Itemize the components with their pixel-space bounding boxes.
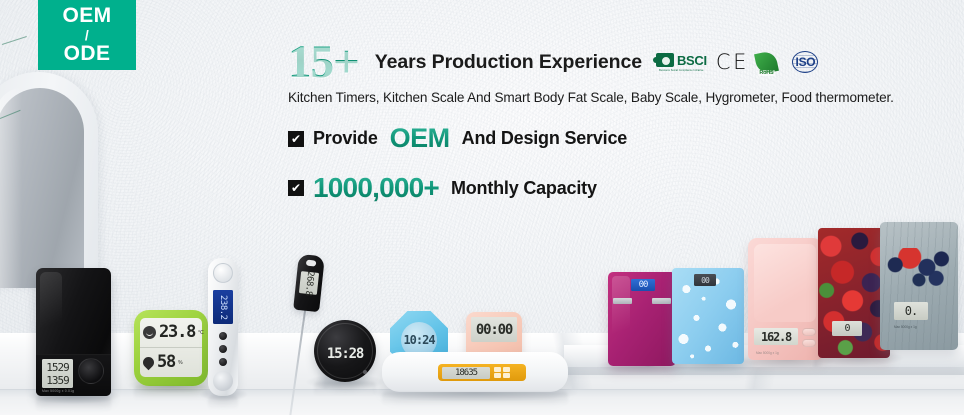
product-folding-thermometer: 238.2	[208, 258, 238, 396]
hygrometer-humidity: 58	[157, 354, 175, 371]
blue-timer-display: 10:24	[403, 333, 434, 347]
product-black-kitchen-scale: 1529 1359 Max 5000g x 0.01g	[36, 268, 111, 396]
bullet-capacity: ✔ 1000,000+ Monthly Capacity	[288, 172, 964, 204]
bsci-mark-icon	[656, 53, 674, 67]
product-reflection	[208, 396, 238, 410]
pink-scale-button[interactable]	[802, 328, 816, 336]
product-reflection	[314, 382, 376, 397]
thermometer-button-2[interactable]	[219, 345, 227, 353]
pink-scale-brand: Max 5000g x 1g	[756, 351, 779, 355]
black-scale-dial-button[interactable]	[78, 358, 104, 384]
certification-logos: BSCI Business Social Compliance Initiati…	[656, 49, 822, 75]
hygrometer-temp-unit: °C	[198, 330, 204, 336]
timer-indicator-dot	[363, 370, 367, 374]
bullet-oem-pre: Provide	[313, 128, 378, 149]
grey-scale-brand: Max 5000g x 1g	[894, 325, 917, 329]
badge-line-1: OEM	[62, 5, 111, 26]
thermometer-foot	[213, 371, 233, 391]
baby-scale-button[interactable]	[503, 367, 510, 372]
black-scale-brand: Max 5000g x 0.01g	[42, 389, 74, 393]
product-purple-body-fat-scale: 00	[608, 272, 676, 366]
folding-thermometer-display: 238.2	[213, 290, 233, 324]
gloss-highlight	[40, 272, 62, 346]
bullet-oem: ✔ Provide OEM And Design Service	[288, 123, 964, 154]
pink-scale-button[interactable]	[802, 339, 816, 347]
black-scale-panel: 1529 1359 Max 5000g x 0.01g	[36, 354, 111, 396]
bullet-oem-highlight: OEM	[387, 123, 453, 154]
probe-display: 268.8	[299, 271, 319, 295]
check-icon: ✔	[288, 131, 304, 147]
badge-line-2: /	[85, 28, 89, 42]
headline-block: 15+ Years Production Experience BSCI Bus…	[288, 38, 964, 204]
black-scale-display-top: 1529	[46, 361, 69, 374]
hygrometer-temp-row: 23.8 °C	[140, 318, 202, 347]
probe-hang-hole	[306, 260, 317, 267]
badge-line-3: ODE	[64, 43, 111, 64]
electrode-right	[652, 298, 671, 304]
pink-scale-plate	[754, 244, 816, 322]
bsci-sublabel: Business Social Compliance Initiative	[659, 69, 703, 72]
product-reflection	[36, 396, 111, 412]
product-blue-polka-dot-scale: 00	[672, 268, 744, 364]
black-scale-display-bottom: 1359	[46, 374, 69, 387]
pink-timer-display: 00:00	[471, 317, 517, 342]
iso-logo: ISO	[788, 49, 822, 75]
bsci-logo-row: BSCI	[656, 53, 707, 68]
hygrometer-humidity-unit: %	[178, 360, 182, 366]
product-white-baby-scale: 18635	[382, 352, 568, 392]
baby-scale-display: 18635	[442, 367, 490, 379]
thermometer-button-1[interactable]	[219, 332, 227, 340]
headline-tagline: Years Production Experience	[375, 51, 642, 74]
product-grey-berry-kitchen-scale: 0. Max 5000g x 1g	[880, 222, 958, 350]
baby-scale-button[interactable]	[503, 373, 510, 378]
bullet-oem-post: And Design Service	[462, 128, 627, 149]
purple-scale-display: 00	[631, 279, 655, 291]
thermometer-hinge	[213, 263, 233, 283]
hygrometer-screen: 23.8 °C 58 %	[140, 318, 202, 377]
product-reflection	[382, 392, 568, 406]
bsci-logo: BSCI Business Social Compliance Initiati…	[656, 53, 707, 72]
pink-scale-display: 162.8	[754, 328, 798, 345]
thermometer-button-3[interactable]	[219, 358, 227, 366]
bullet-capacity-highlight: 1000,000+	[313, 172, 442, 204]
rohs-logo: RoHS	[753, 49, 779, 75]
product-pink-kitchen-scale: 162.8 Max 5000g x 1g	[748, 238, 822, 360]
product-subline: Kitchen Timers, Kitchen Scale And Smart …	[288, 90, 964, 105]
ce-logo: C E	[716, 52, 745, 73]
hygrometer-temperature: 23.8	[159, 324, 195, 341]
banner-stage: OEM / ODE 15+ Years Production Experienc…	[0, 0, 964, 415]
berry-scale-display: 0	[832, 321, 862, 336]
polka-scale-display: 00	[694, 274, 716, 286]
check-icon: ✔	[288, 180, 304, 196]
round-timer-display: 15:28	[314, 346, 376, 362]
baby-scale-button[interactable]	[494, 367, 501, 372]
electrode-left	[613, 298, 632, 304]
product-reflection	[134, 386, 208, 401]
product-round-black-timer: 15:28	[314, 320, 376, 382]
baby-scale-buttons	[494, 367, 510, 379]
gloss-highlight	[612, 276, 630, 360]
berry-graphic	[886, 248, 952, 290]
headline-row: 15+ Years Production Experience BSCI Bus…	[288, 38, 964, 86]
bullet-capacity-post: Monthly Capacity	[451, 178, 597, 199]
baby-scale-button[interactable]	[494, 373, 501, 378]
pink-scale-buttons	[802, 328, 816, 347]
years-number: 15+	[288, 39, 361, 86]
rohs-label: RoHS	[758, 70, 774, 76]
bsci-label: BSCI	[677, 53, 707, 68]
hygrometer-humidity-row: 58 %	[140, 347, 202, 377]
oem-ode-badge: OEM / ODE	[38, 0, 136, 70]
baby-scale-panel: 18635	[438, 364, 526, 381]
product-green-hygrometer: 23.8 °C 58 %	[134, 310, 208, 386]
grey-scale-display: 0.	[894, 302, 928, 320]
black-scale-display: 1529 1359	[42, 359, 73, 388]
smiley-face-icon	[143, 326, 156, 339]
wall-arch-highlight	[0, 88, 22, 288]
iso-label: ISO	[796, 55, 816, 69]
water-drop-icon	[141, 355, 157, 371]
